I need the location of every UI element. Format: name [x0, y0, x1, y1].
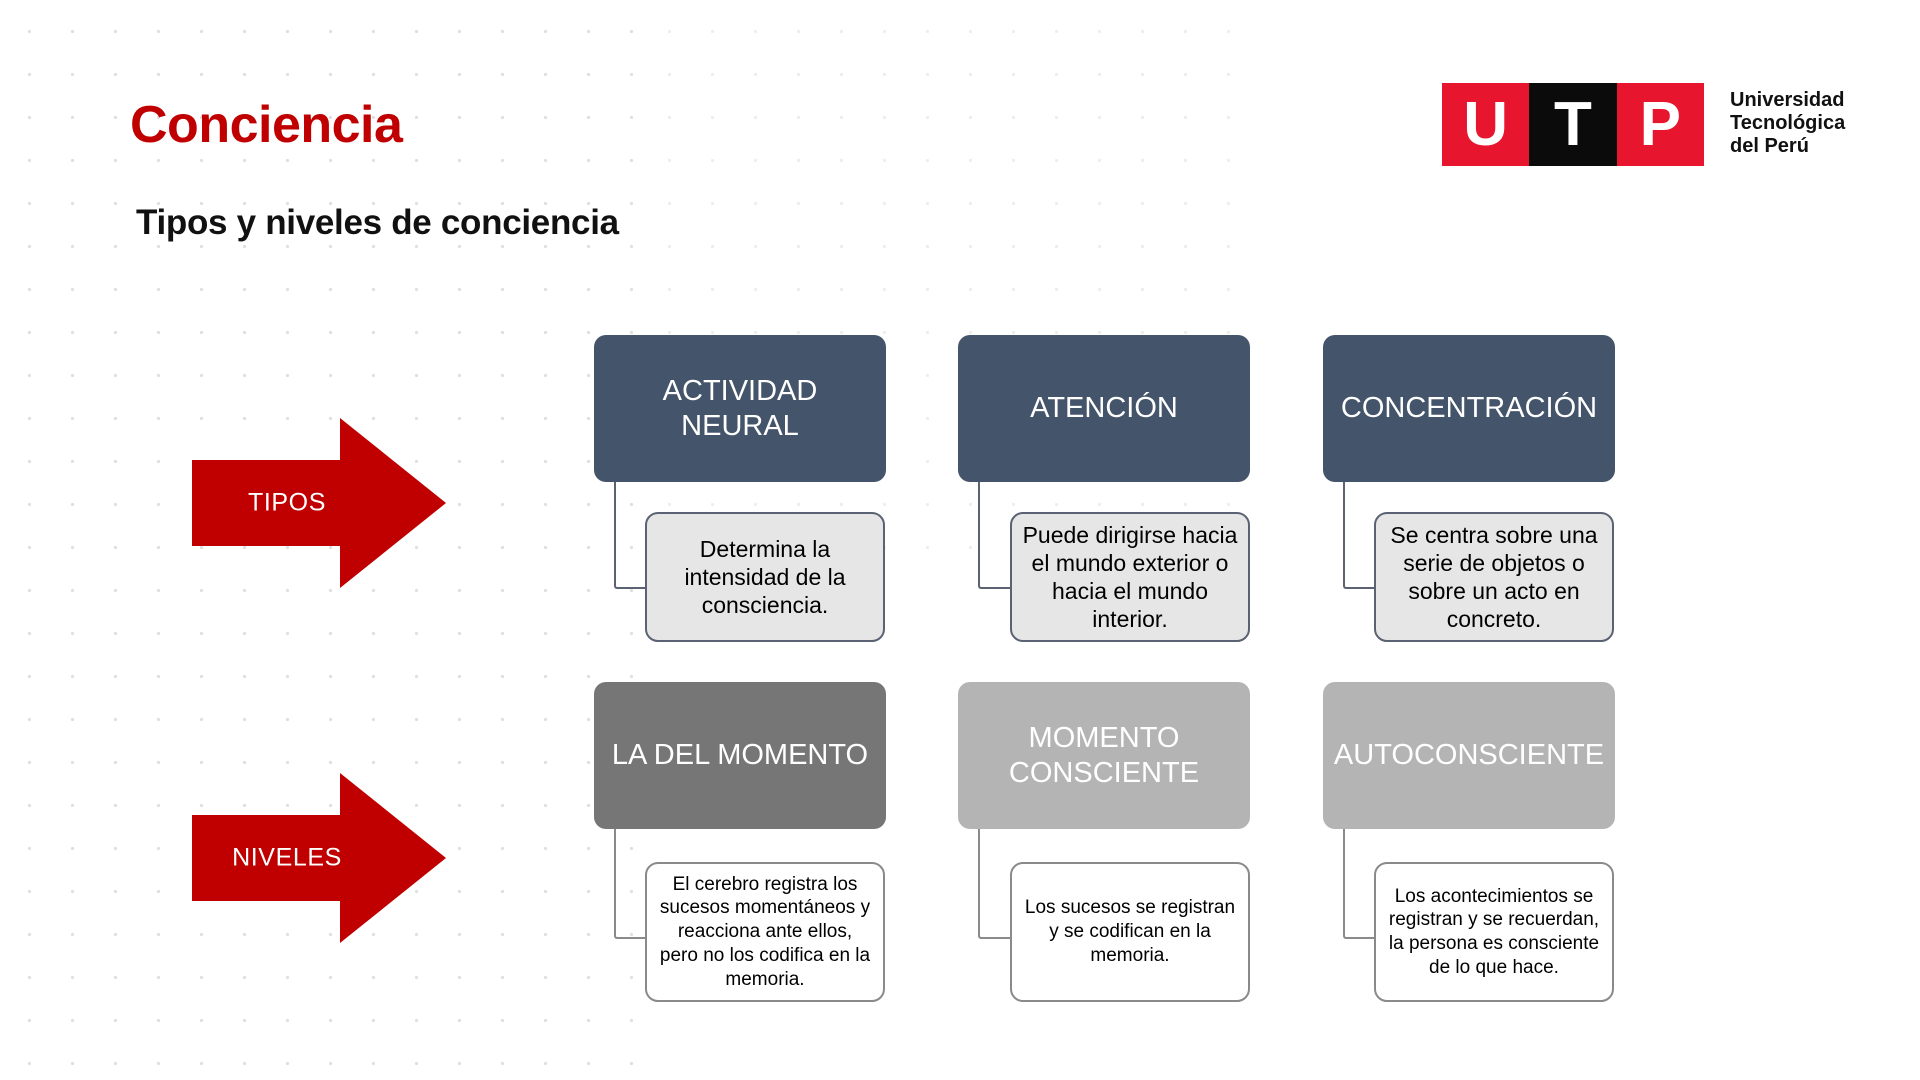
header-box-label: LA DEL MOMENTO: [612, 738, 868, 772]
page-subtitle: Tipos y niveles de conciencia: [136, 203, 619, 243]
header-box-label: CONCENTRACIÓN: [1341, 391, 1597, 425]
connector-autoconsciente: [1343, 829, 1376, 939]
page-title: Conciencia: [130, 95, 402, 155]
tipos-arrow: TIPOS: [192, 418, 446, 588]
utp-logo-line-3: del Perú: [1730, 135, 1845, 158]
header-box-momento-consciente[interactable]: MOMENTO CONSCIENTE: [958, 682, 1250, 829]
header-box-label: ATENCIÓN: [1030, 391, 1178, 425]
detail-box-concentracion[interactable]: Se centra sobre una serie de objetos o s…: [1374, 512, 1614, 642]
utp-logo-letter-t: T: [1529, 83, 1616, 166]
connector-concentracion: [1343, 482, 1376, 589]
header-box-atencion[interactable]: ATENCIÓN: [958, 335, 1250, 482]
detail-box-atencion[interactable]: Puede dirigirse hacia el mundo exterior …: [1010, 512, 1250, 642]
header-box-autoconsciente[interactable]: AUTOCONSCIENTE: [1323, 682, 1615, 829]
header-box-actividad-neural[interactable]: ACTIVIDAD NEURAL: [594, 335, 886, 482]
detail-box-autoconsciente[interactable]: Los acontecimientos se registran y se re…: [1374, 862, 1614, 1002]
utp-logo-letter-p: P: [1617, 83, 1704, 166]
detail-box-text: Determina la intensidad de la conscienci…: [657, 535, 873, 619]
detail-box-text: El cerebro registra los sucesos momentán…: [657, 873, 873, 992]
detail-box-momento-consciente[interactable]: Los sucesos se registran y se codifican …: [1010, 862, 1250, 1002]
slide-canvas: Conciencia Tipos y niveles de conciencia…: [0, 0, 1920, 1080]
utp-logo-wordmark: Universidad Tecnológica del Perú: [1730, 89, 1845, 159]
connector-atencion: [978, 482, 1011, 589]
detail-box-text: Se centra sobre una serie de objetos o s…: [1386, 521, 1602, 633]
header-box-label: MOMENTO CONSCIENTE: [970, 721, 1238, 789]
detail-box-text: Puede dirigirse hacia el mundo exterior …: [1022, 521, 1238, 633]
detail-box-actividad-neural[interactable]: Determina la intensidad de la conscienci…: [645, 512, 885, 642]
detail-box-text: Los sucesos se registran y se codifican …: [1022, 896, 1238, 967]
utp-logo-mark: U T P: [1442, 83, 1704, 166]
connector-momento-consciente: [978, 829, 1011, 939]
header-box-label: AUTOCONSCIENTE: [1334, 738, 1604, 772]
detail-box-text: Los acontecimientos se registran y se re…: [1386, 885, 1602, 980]
header-box-la-del-momento[interactable]: LA DEL MOMENTO: [594, 682, 886, 829]
niveles-arrow: NIVELES: [192, 773, 446, 943]
detail-box-la-del-momento[interactable]: El cerebro registra los sucesos momentán…: [645, 862, 885, 1002]
right-arrow-icon: [192, 418, 446, 588]
connector-la-del-momento: [614, 829, 647, 939]
utp-logo-line-2: Tecnológica: [1730, 112, 1845, 135]
right-arrow-icon: [192, 773, 446, 943]
header-box-label: ACTIVIDAD NEURAL: [606, 374, 874, 442]
utp-logo-letter-u: U: [1442, 83, 1529, 166]
utp-logo: U T P Universidad Tecnológica del Perú: [1442, 83, 1845, 166]
utp-logo-line-1: Universidad: [1730, 89, 1845, 112]
header-box-concentracion[interactable]: CONCENTRACIÓN: [1323, 335, 1615, 482]
connector-actividad-neural: [614, 482, 647, 589]
